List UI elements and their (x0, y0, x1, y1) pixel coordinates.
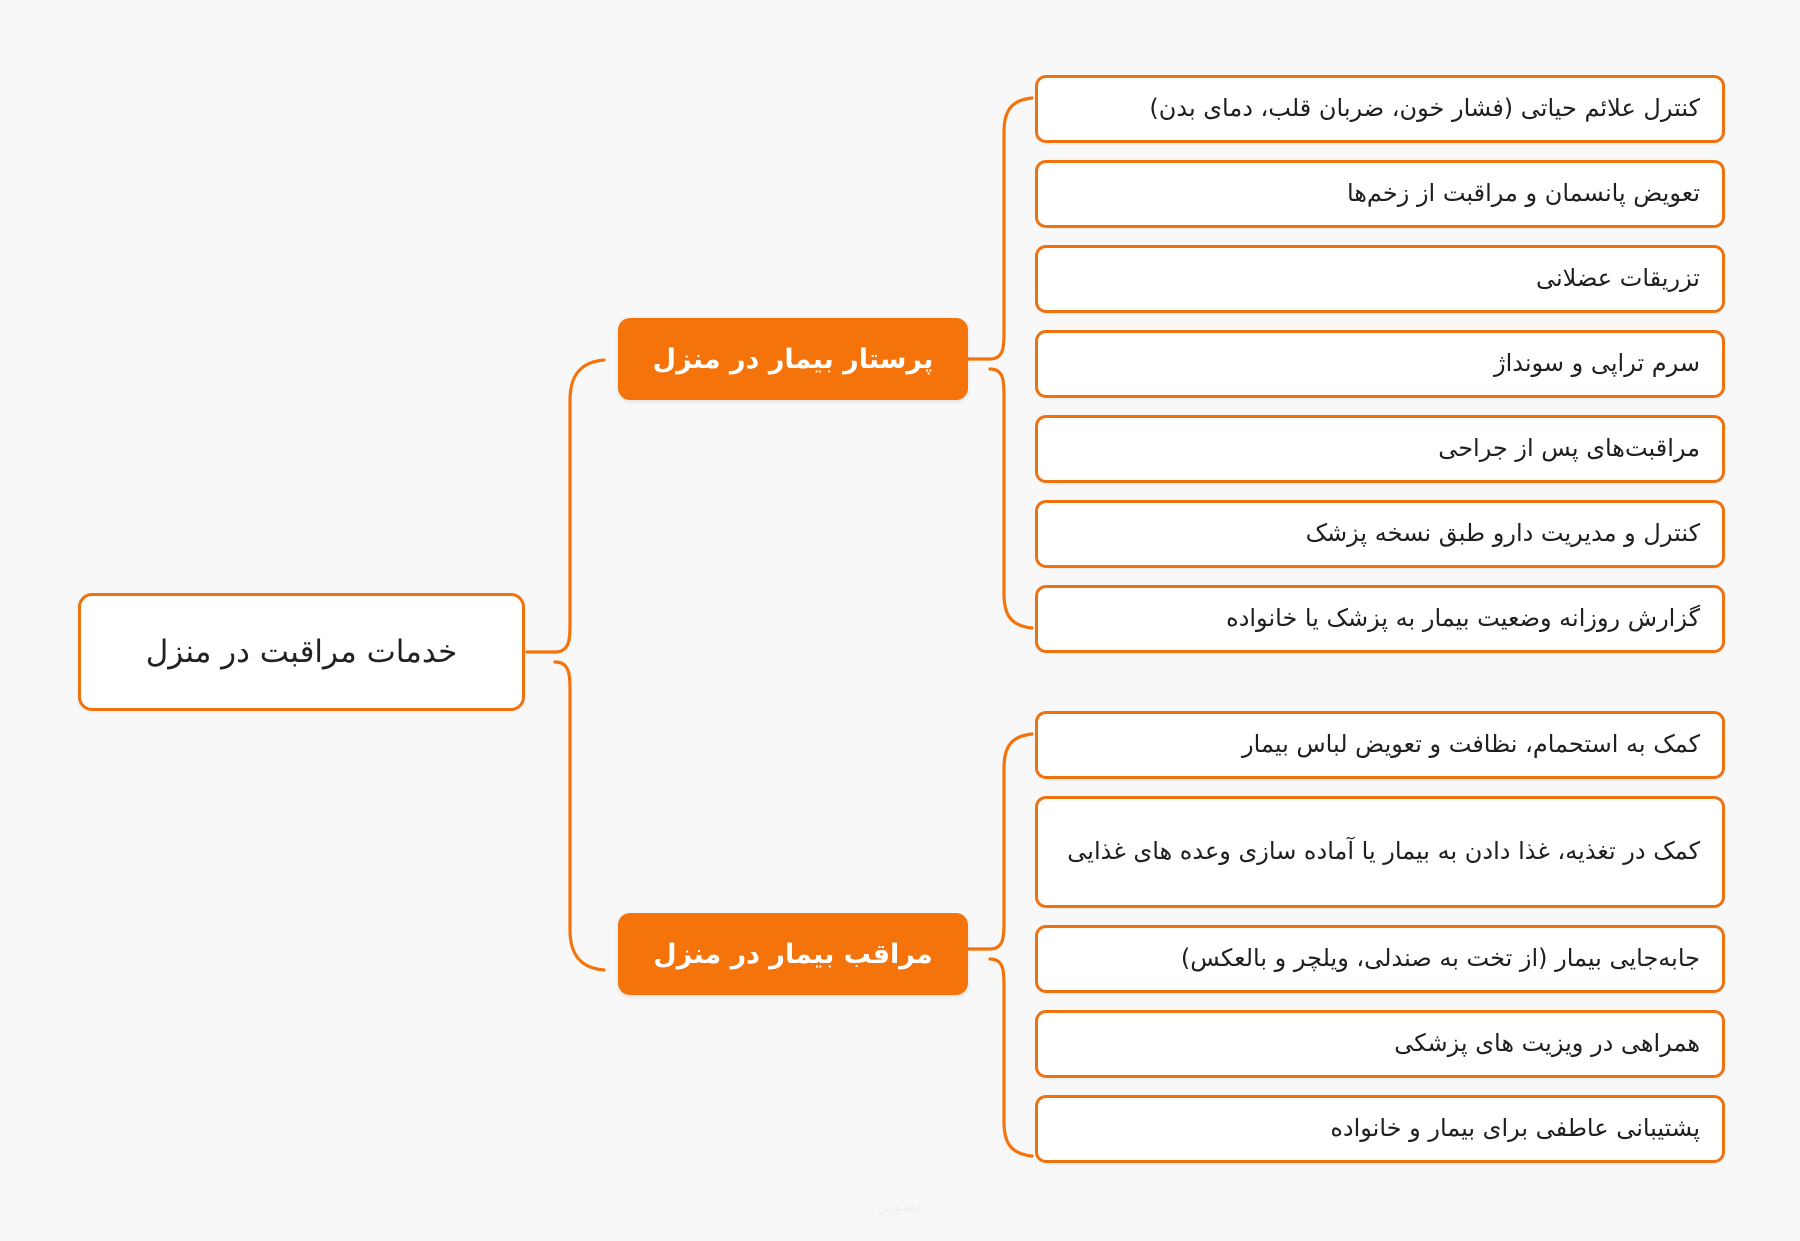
leaf-node-vital-signs[interactable]: کنترل علائم حیاتی (فشار خون، ضربان قلب، … (1035, 75, 1725, 143)
leaf-node-label: پشتیبانی عاطفی برای بیمار و خانواده (1060, 1110, 1700, 1147)
leaf-node-daily-report[interactable]: گزارش روزانه وضعیت بیمار به پزشک یا خانو… (1035, 585, 1725, 653)
leaf-node-label: گزارش روزانه وضعیت بیمار به پزشک یا خانو… (1060, 600, 1700, 637)
leaf-node-intramuscular-injections[interactable]: تزریقات عضلانی (1035, 245, 1725, 313)
mindmap-canvas: خدمات مراقبت در منزل پرستار بیمار در منز… (0, 0, 1800, 1241)
root-node[interactable]: خدمات مراقبت در منزل (78, 593, 525, 711)
leaf-node-label: سرم تراپی و سونداژ (1060, 345, 1700, 382)
leaf-node-label: کنترل علائم حیاتی (فشار خون، ضربان قلب، … (1060, 90, 1700, 127)
leaf-node-label: تزریقات عضلانی (1060, 260, 1700, 297)
leaf-node-label: جابه‌جایی بیمار (از تخت به صندلی، ویلچر … (1060, 940, 1700, 977)
branch-node-nurse[interactable]: پرستار بیمار در منزل (618, 318, 968, 400)
leaf-node-label: همراهی در ویزیت های پزشکی (1060, 1025, 1700, 1062)
leaf-node-emotional-support[interactable]: پشتیبانی عاطفی برای بیمار و خانواده (1035, 1095, 1725, 1163)
leaf-node-feeding-meal-prep[interactable]: کمک در تغذیه، غذا دادن به بیمار یا آماده… (1035, 796, 1725, 908)
leaf-node-patient-transfer[interactable]: جابه‌جایی بیمار (از تخت به صندلی، ویلچر … (1035, 925, 1725, 993)
root-node-label: خدمات مراقبت در منزل (146, 634, 458, 670)
connector-branch2-bracket (990, 734, 1032, 1156)
leaf-node-bathing-hygiene[interactable]: کمک به استحمام، نظافت و تعویض لباس بیمار (1035, 711, 1725, 779)
leaf-node-label: مراقبت‌های پس از جراحی (1060, 430, 1700, 467)
leaf-node-post-surgery-care[interactable]: مراقبت‌های پس از جراحی (1035, 415, 1725, 483)
leaf-node-medication-management[interactable]: کنترل و مدیریت دارو طبق نسخه پزشک (1035, 500, 1725, 568)
leaf-node-label: تعویض پانسمان و مراقبت از زخم‌ها (1060, 175, 1700, 212)
leaf-node-medical-visit-accompaniment[interactable]: همراهی در ویزیت های پزشکی (1035, 1010, 1725, 1078)
branch-node-caregiver-label: مراقب بیمار در منزل (653, 939, 933, 970)
leaf-node-label: کنترل و مدیریت دارو طبق نسخه پزشک (1060, 515, 1700, 552)
connector-branch1-bracket (990, 98, 1032, 628)
branch-node-nurse-label: پرستار بیمار در منزل (653, 344, 934, 375)
connector-root-bracket (555, 360, 604, 970)
watermark-text: تصویر (0, 1196, 1800, 1216)
branch-node-caregiver[interactable]: مراقب بیمار در منزل (618, 913, 968, 995)
leaf-node-iv-therapy-catheter[interactable]: سرم تراپی و سونداژ (1035, 330, 1725, 398)
leaf-node-label: کمک به استحمام، نظافت و تعویض لباس بیمار (1060, 726, 1700, 763)
leaf-node-label: کمک در تغذیه، غذا دادن به بیمار یا آماده… (1060, 833, 1700, 870)
leaf-node-dressing-wound-care[interactable]: تعویض پانسمان و مراقبت از زخم‌ها (1035, 160, 1725, 228)
